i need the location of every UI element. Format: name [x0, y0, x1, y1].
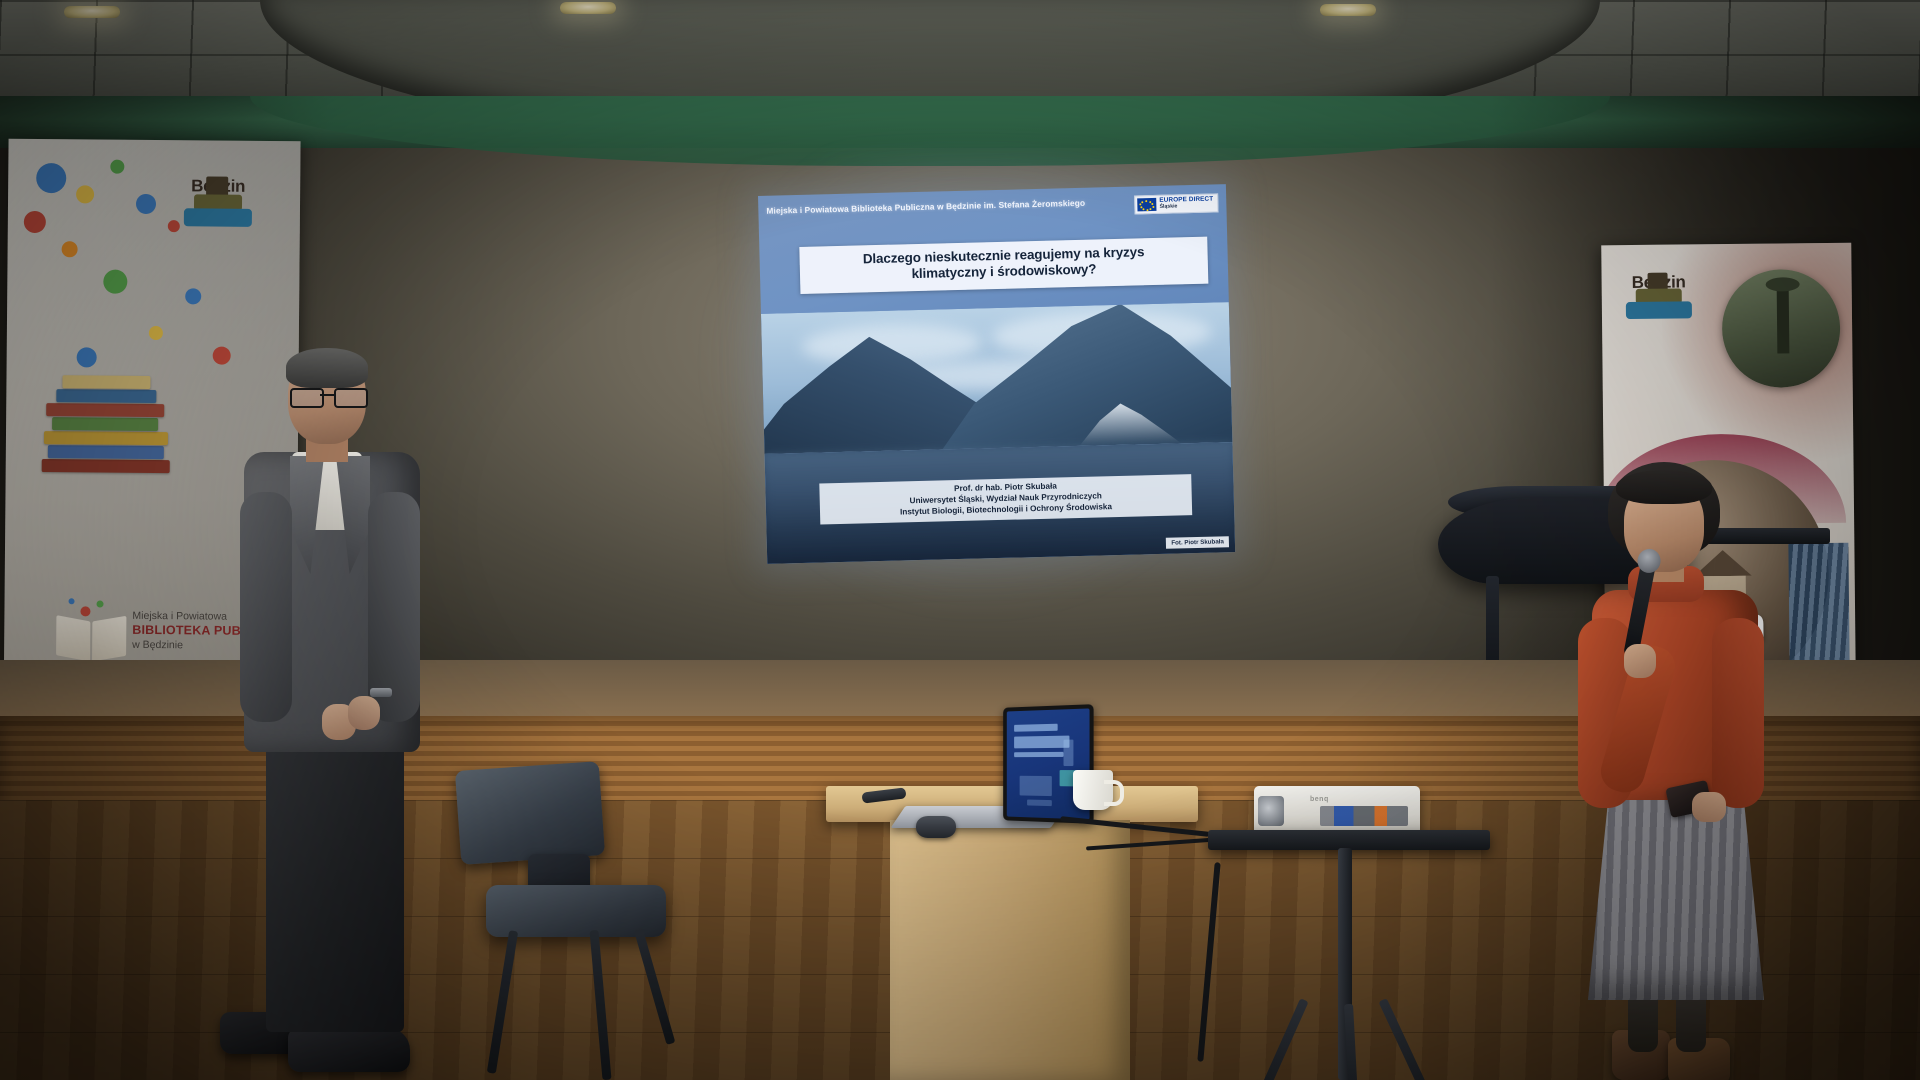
bedzin-logo: Będzin góra!	[1618, 272, 1700, 301]
park-tower-icon	[1777, 284, 1790, 354]
library-open-book-icon	[56, 604, 128, 661]
host-arm	[1712, 618, 1764, 808]
host-person	[1572, 462, 1778, 1080]
eu-flag-icon	[1137, 198, 1156, 211]
projector-ports	[1320, 806, 1408, 826]
slide-photo-credit: Fot. Piotr Skubała	[1166, 536, 1229, 549]
computer-mouse[interactable]	[916, 816, 956, 838]
speaker-trousers	[266, 732, 404, 1032]
host-hand	[1692, 792, 1726, 822]
office-chair-back	[455, 761, 605, 865]
speaker-hair	[286, 348, 368, 388]
coffee-mug	[1073, 770, 1113, 810]
ceiling-light	[64, 6, 120, 18]
host-pleated-skirt	[1588, 790, 1764, 1000]
eyeglasses-icon	[290, 388, 364, 404]
projected-slide: Miejska i Powiatowa Biblioteka Publiczna…	[758, 184, 1235, 564]
speaker-hand	[348, 696, 380, 730]
speaker-shoe	[288, 1028, 410, 1072]
projector-stand-platform	[1208, 830, 1490, 850]
ceiling-light	[1320, 4, 1376, 16]
banner-park-photo	[1721, 269, 1840, 388]
europe-direct-region: Śląskie	[1159, 204, 1213, 211]
slide-header: Miejska i Powiatowa Biblioteka Publiczna…	[766, 193, 1219, 238]
wooden-podium	[890, 820, 1130, 1080]
speaker-person	[236, 352, 446, 1080]
slide-organization-text: Miejska i Powiatowa Biblioteka Publiczna…	[766, 197, 1085, 216]
host-fringe	[1616, 470, 1712, 504]
banner-book-stack-graphic	[42, 367, 183, 478]
slide-photograph: Prof. dr hab. Piotr Skubała Uniwersytet …	[761, 302, 1235, 564]
ceiling-light	[560, 2, 616, 14]
wristwatch	[370, 688, 392, 697]
projector-lens	[1258, 796, 1284, 826]
host-hand	[1624, 644, 1656, 678]
presentation-room-photo: Miejska i Powiatowa Biblioteka Publiczna…	[0, 0, 1920, 1080]
slide-title-box: Dlaczego nieskutecznie reagujemy na kryz…	[799, 237, 1208, 294]
speaker-arm	[240, 492, 292, 722]
projector-brand-label: benq	[1310, 796, 1329, 803]
europe-direct-logo: EUROPE DIRECT Śląskie	[1134, 193, 1218, 214]
